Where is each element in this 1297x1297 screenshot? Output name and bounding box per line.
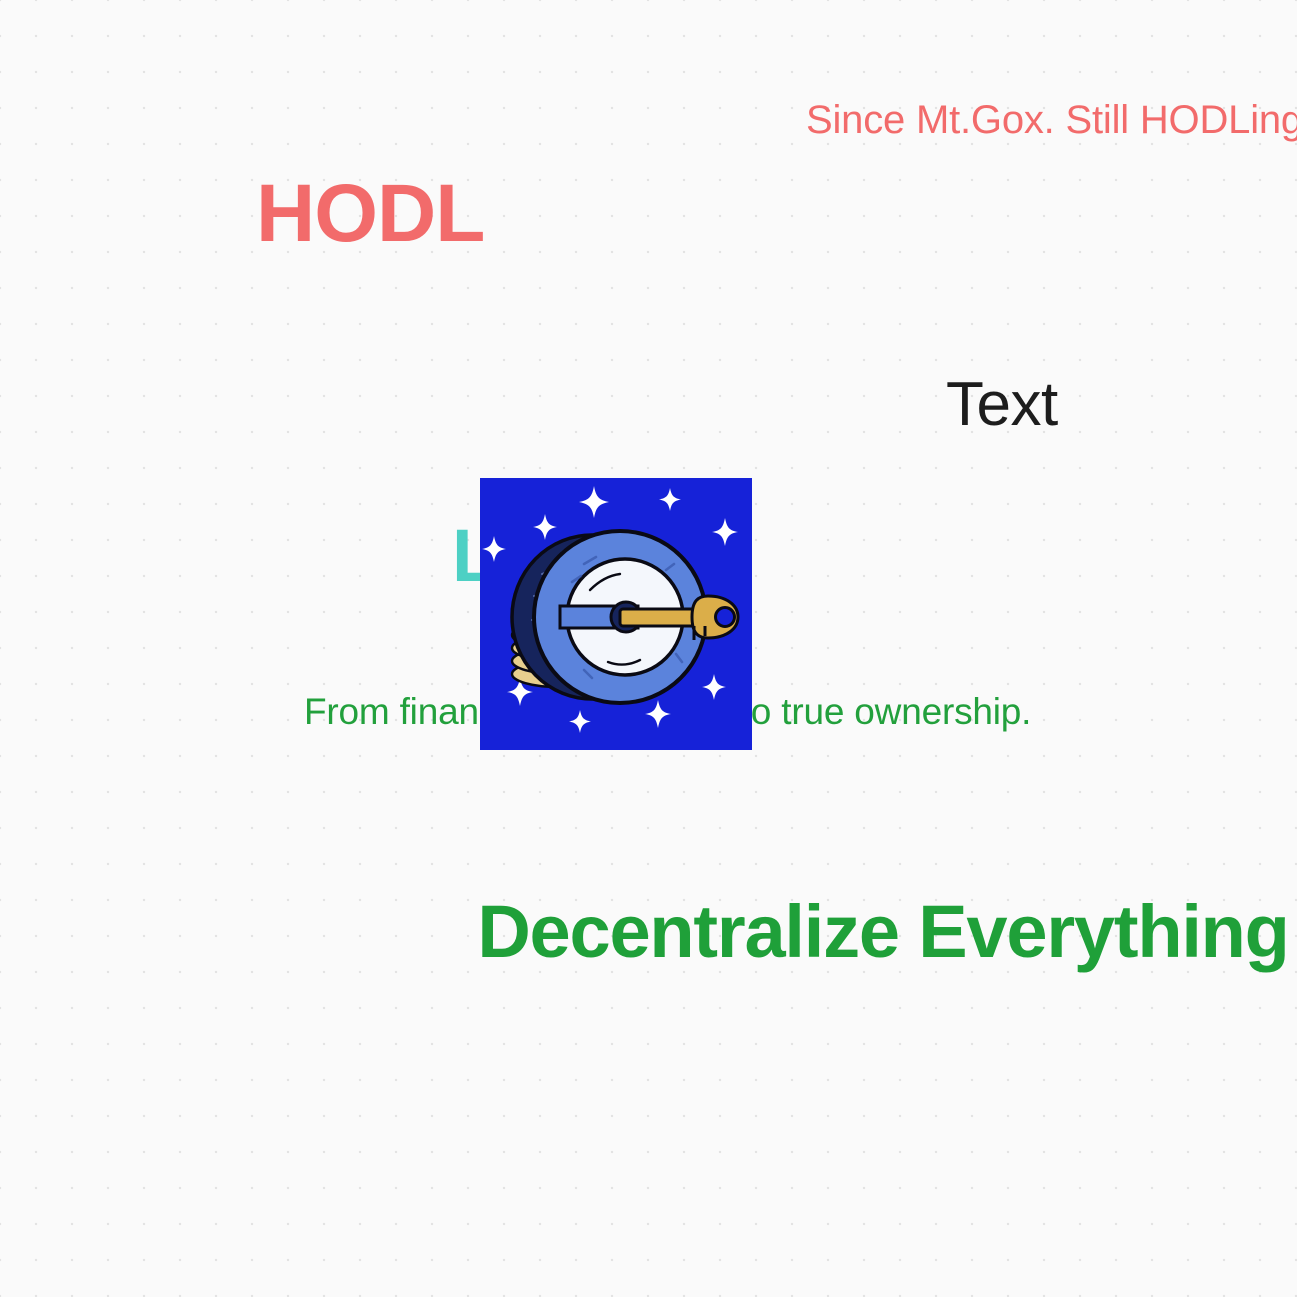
page-title: HODL (256, 166, 484, 263)
text-label: Text (946, 368, 1058, 441)
poster-canvas: Since Mt.Gox. Still HODLing HODL Text Le… (0, 0, 1297, 1297)
footer-heading: Decentralize Everything (328, 885, 1297, 980)
bitcoin-vault-key-illustration (480, 478, 752, 750)
tagline-text: Since Mt.Gox. Still HODLing (806, 97, 1297, 144)
